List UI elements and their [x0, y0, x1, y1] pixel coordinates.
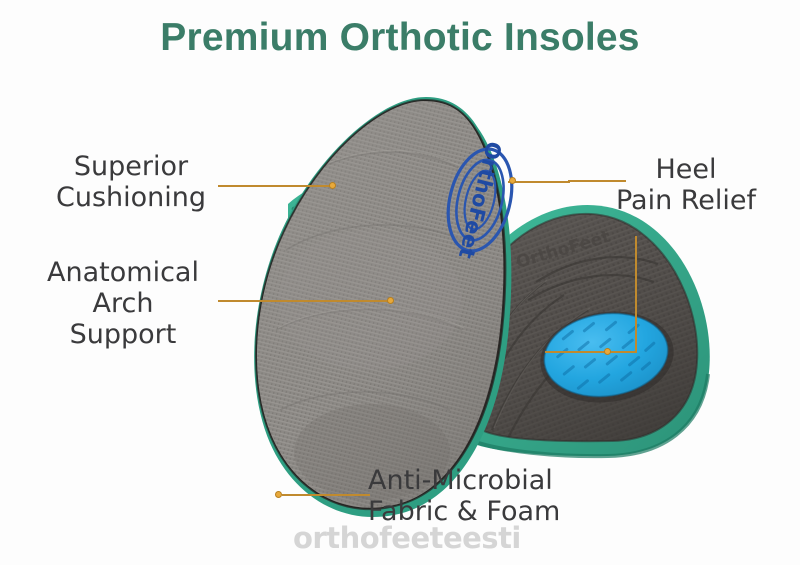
leader-dot-anti-microbial — [275, 491, 282, 498]
leader-line-anti-microbial — [282, 494, 370, 496]
watermark: orthofeeteesti — [293, 521, 521, 555]
leader-dot-anatomical-arch — [387, 297, 394, 304]
callout-superior-cushioning: Superior Cushioning — [22, 152, 240, 214]
leader-line-heel-vertical — [635, 236, 637, 352]
callout-anatomical-arch-support: Anatomical Arch Support — [14, 258, 232, 350]
leader-line-anatomical-arch — [218, 300, 392, 302]
page-title: Premium Orthotic Insoles — [0, 16, 800, 60]
callout-heel-pain-relief: Heel Pain Relief — [586, 155, 786, 217]
leader-dot-heel-top — [509, 177, 516, 184]
leader-dot-superior-cushioning — [329, 182, 336, 189]
leader-line-heel-to-insole — [508, 181, 570, 183]
leader-line-heel-gel — [545, 351, 637, 353]
callout-anti-microbial: Anti-Microbial Fabric & Foam — [368, 466, 668, 528]
front-insole-topview: OrthoFeet — [240, 90, 524, 517]
infographic-canvas: OrthoFeet — [0, 0, 800, 565]
leader-dot-gel-pad — [604, 348, 611, 355]
